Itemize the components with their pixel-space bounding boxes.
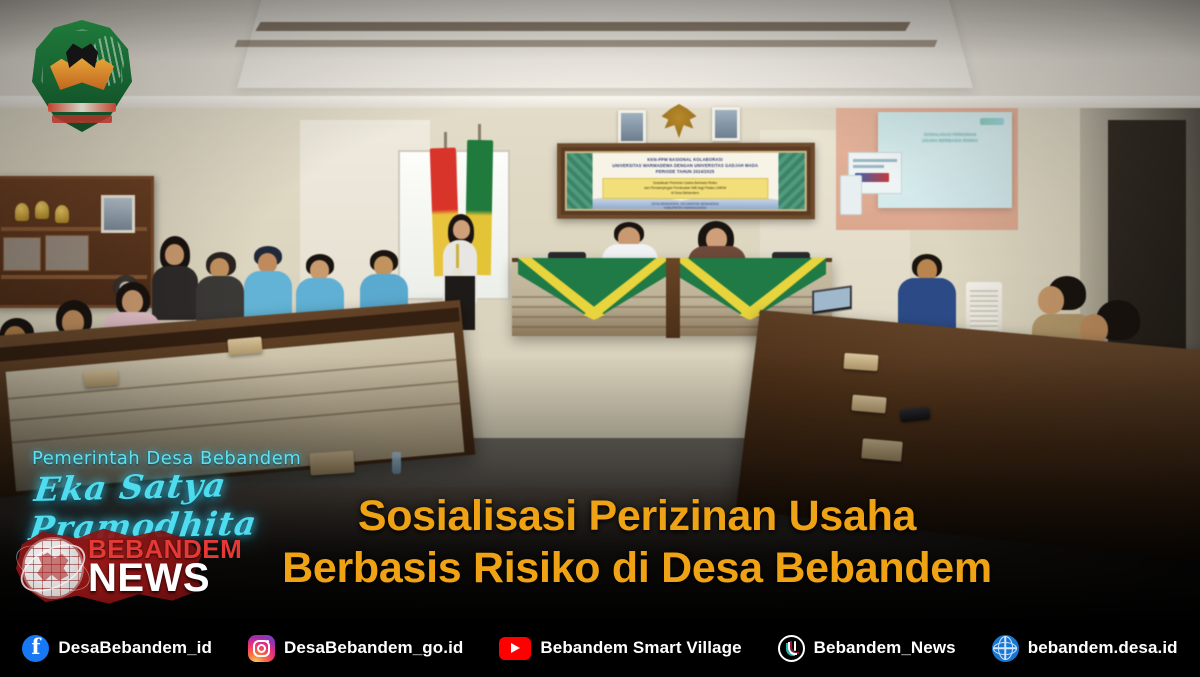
banner-line-3: PERIODE TAHUN 2024/2025 — [656, 169, 715, 175]
snack-box — [227, 337, 262, 356]
water-bottle — [392, 452, 401, 474]
slide-logo — [980, 118, 1004, 125]
social-item-facebook[interactable]: f DesaBebandem_id — [22, 635, 212, 662]
banner-highlight-box: Sosialisasi Perizinan Usaha Berbasis Ris… — [602, 178, 768, 199]
instagram-handle: DesaBebandem_go.id — [284, 638, 463, 658]
table-divider — [666, 258, 680, 338]
snack-box — [851, 395, 886, 414]
instagram-icon[interactable] — [248, 635, 275, 662]
portrait-vice-president — [712, 107, 740, 141]
news-thumbnail-image: KKN-PPM NASIONAL KOLABORASI UNIVERSITAS … — [0, 0, 1200, 677]
portrait-president — [618, 110, 646, 144]
framed-photo — [101, 195, 135, 233]
website-icon[interactable] — [992, 635, 1019, 662]
website-url: bebandem.desa.id — [1028, 638, 1178, 658]
social-item-youtube[interactable]: Bebandem Smart Village — [499, 637, 741, 660]
slide-title-line-2: USAHA BERBASIS RISIKO — [896, 138, 1004, 144]
ceiling — [0, 0, 1200, 118]
facebook-handle: DesaBebandem_id — [58, 638, 212, 658]
headline: Sosialisasi Perizinan Usaha Berbasis Ris… — [0, 490, 1200, 594]
tiktok-handle: Bebandem_News — [814, 638, 956, 658]
banner-box-line-3: di Desa Bebandem — [606, 191, 764, 196]
cornice-trim-secondary — [235, 40, 938, 47]
banner-foot-line-2: KABUPATEN KARANGASEM — [651, 206, 718, 211]
slide-title: SOSIALISASI PERIZINAN USAHA BERBASIS RIS… — [896, 132, 1004, 145]
event-banner: KKN-PPM NASIONAL KOLABORASI UNIVERSITAS … — [557, 143, 815, 220]
cornice-trim — [255, 22, 910, 31]
social-item-website[interactable]: bebandem.desa.id — [992, 635, 1178, 662]
karangasem-regency-emblem — [32, 20, 132, 132]
banner-footer: DESA BEBANDEM, KECAMATAN BEBANDEM KABUPA… — [651, 202, 718, 212]
social-item-tiktok[interactable]: Bebandem_News — [778, 635, 956, 662]
attendee — [196, 252, 244, 326]
social-media-bar: f DesaBebandem_id DesaBebandem_go.id Beb… — [0, 619, 1200, 677]
youtube-handle: Bebandem Smart Village — [540, 638, 741, 658]
tiktok-icon[interactable] — [778, 635, 805, 662]
headline-line-1: Sosialisasi Perizinan Usaha — [0, 490, 1178, 542]
headline-line-2: Berbasis Risiko di Desa Bebandem — [0, 542, 1178, 594]
laptop — [812, 288, 856, 318]
youtube-icon[interactable] — [499, 637, 531, 660]
slide-thumbnail-secondary — [840, 175, 862, 215]
snack-box — [843, 353, 878, 371]
snack-box — [861, 438, 903, 461]
social-item-instagram[interactable]: DesaBebandem_go.id — [248, 635, 463, 662]
facebook-icon[interactable]: f — [22, 635, 49, 662]
snack-box — [83, 369, 118, 387]
